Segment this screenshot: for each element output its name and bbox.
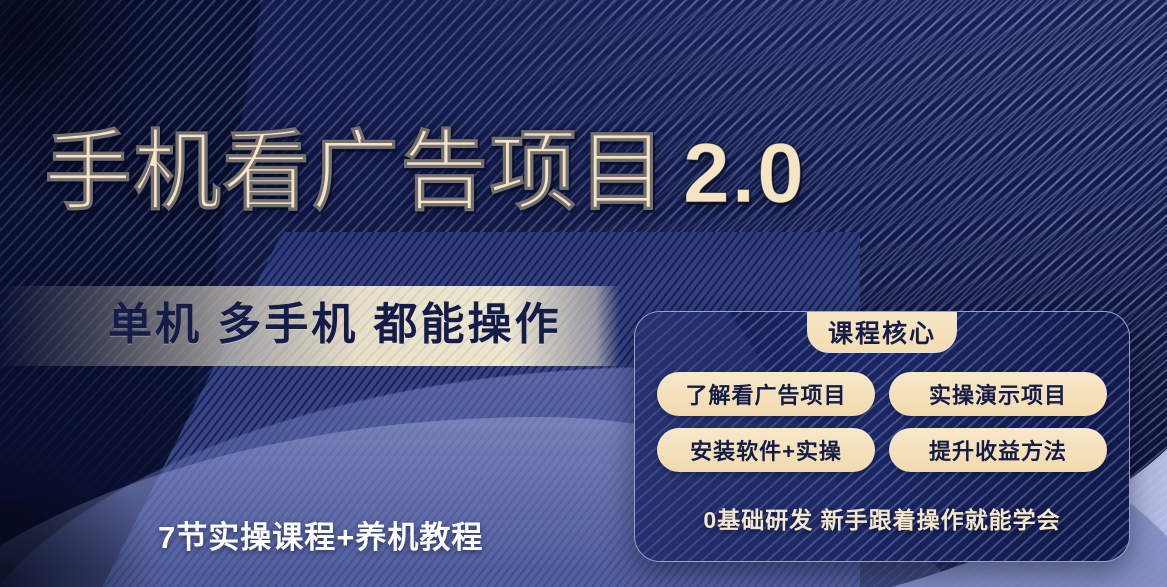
poster-content: 手机看广告项目2.0 单机 多手机 都能操作 7节实操课程+养机教程 课程核心 … <box>0 0 1167 587</box>
feature-pill-grid: 了解看广告项目 实操演示项目 安装软件+实操 提升收益方法 <box>657 372 1107 472</box>
promo-poster: 手机看广告项目2.0 单机 多手机 都能操作 7节实操课程+养机教程 课程核心 … <box>0 0 1167 587</box>
page-title: 手机看广告项目2.0 <box>44 122 1034 223</box>
page-subtitle: 单机 多手机 都能操作 <box>108 296 561 354</box>
card-inner: 课程核心 了解看广告项目 实操演示项目 安装软件+实操 提升收益方法 0基础研发… <box>635 312 1129 561</box>
card-badge-course-core: 课程核心 <box>807 311 957 353</box>
feature-pill[interactable]: 实操演示项目 <box>889 372 1107 416</box>
course-count-note: 7节实操课程+养机教程 <box>158 518 483 558</box>
page-title-text: 手机看广告项目 <box>44 122 667 221</box>
feature-pill[interactable]: 安装软件+实操 <box>657 428 875 472</box>
page-title-version: 2.0 <box>667 126 806 220</box>
feature-pill[interactable]: 提升收益方法 <box>889 428 1107 472</box>
course-core-card: 课程核心 了解看广告项目 实操演示项目 安装软件+实操 提升收益方法 0基础研发… <box>634 311 1130 562</box>
feature-pill[interactable]: 了解看广告项目 <box>657 372 875 416</box>
card-footer-note: 0基础研发 新手跟着操作就能学会 <box>635 501 1129 535</box>
